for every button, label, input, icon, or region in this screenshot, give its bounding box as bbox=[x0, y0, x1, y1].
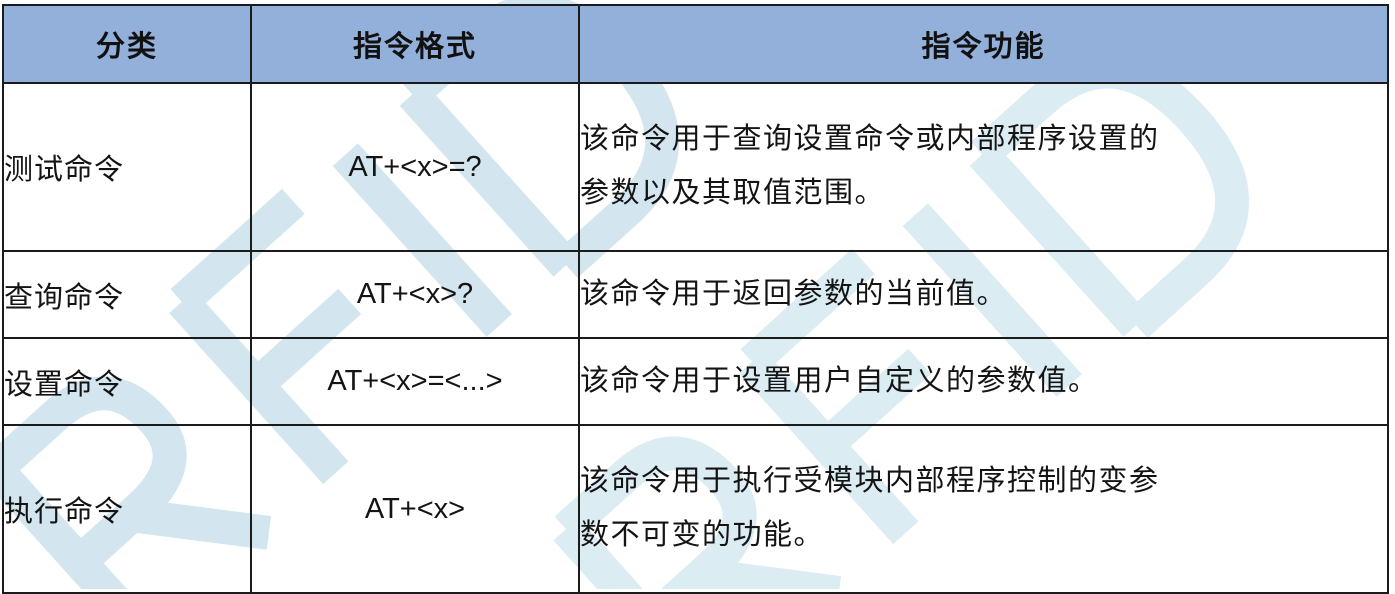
cell-category: 查询命令 bbox=[3, 251, 251, 338]
cell-function: 该命令用于执行受模块内部程序控制的变参 数不可变的功能。 bbox=[579, 425, 1388, 593]
at-command-table: 分类 指令格式 指令功能 测试命令 AT+<x>=? 该命令用于查询设置命令或内… bbox=[2, 4, 1389, 594]
table-row: 测试命令 AT+<x>=? 该命令用于查询设置命令或内部程序设置的 参数以及其取… bbox=[3, 83, 1388, 251]
function-line: 该命令用于执行受模块内部程序控制的变参 bbox=[580, 455, 1387, 509]
function-line: 数不可变的功能。 bbox=[580, 509, 1387, 563]
cell-category: 执行命令 bbox=[3, 425, 251, 593]
table-row: 执行命令 AT+<x> 该命令用于执行受模块内部程序控制的变参 数不可变的功能。 bbox=[3, 425, 1388, 593]
cell-format: AT+<x>=? bbox=[251, 83, 579, 251]
document-page: 分类 指令格式 指令功能 测试命令 AT+<x>=? 该命令用于查询设置命令或内… bbox=[0, 0, 1395, 589]
table-header-row: 分类 指令格式 指令功能 bbox=[3, 5, 1388, 83]
cell-format: AT+<x>? bbox=[251, 251, 579, 338]
cell-function: 该命令用于查询设置命令或内部程序设置的 参数以及其取值范围。 bbox=[579, 83, 1388, 251]
header-format: 指令格式 bbox=[251, 5, 579, 83]
table-row: 查询命令 AT+<x>? 该命令用于返回参数的当前值。 bbox=[3, 251, 1388, 338]
header-function: 指令功能 bbox=[579, 5, 1388, 83]
table-body: 测试命令 AT+<x>=? 该命令用于查询设置命令或内部程序设置的 参数以及其取… bbox=[3, 83, 1388, 593]
header-category: 分类 bbox=[3, 5, 251, 83]
cell-category: 设置命令 bbox=[3, 338, 251, 425]
table-row: 设置命令 AT+<x>=<...> 该命令用于设置用户自定义的参数值。 bbox=[3, 338, 1388, 425]
cell-function: 该命令用于返回参数的当前值。 bbox=[579, 251, 1388, 338]
function-line: 参数以及其取值范围。 bbox=[580, 167, 1387, 221]
cell-format: AT+<x>=<...> bbox=[251, 338, 579, 425]
cell-format: AT+<x> bbox=[251, 425, 579, 593]
cell-category: 测试命令 bbox=[3, 83, 251, 251]
function-line: 该命令用于设置用户自定义的参数值。 bbox=[580, 355, 1387, 409]
function-line: 该命令用于返回参数的当前值。 bbox=[580, 268, 1387, 322]
function-line: 该命令用于查询设置命令或内部程序设置的 bbox=[580, 113, 1387, 167]
cell-function: 该命令用于设置用户自定义的参数值。 bbox=[579, 338, 1388, 425]
table-header: 分类 指令格式 指令功能 bbox=[3, 5, 1388, 83]
